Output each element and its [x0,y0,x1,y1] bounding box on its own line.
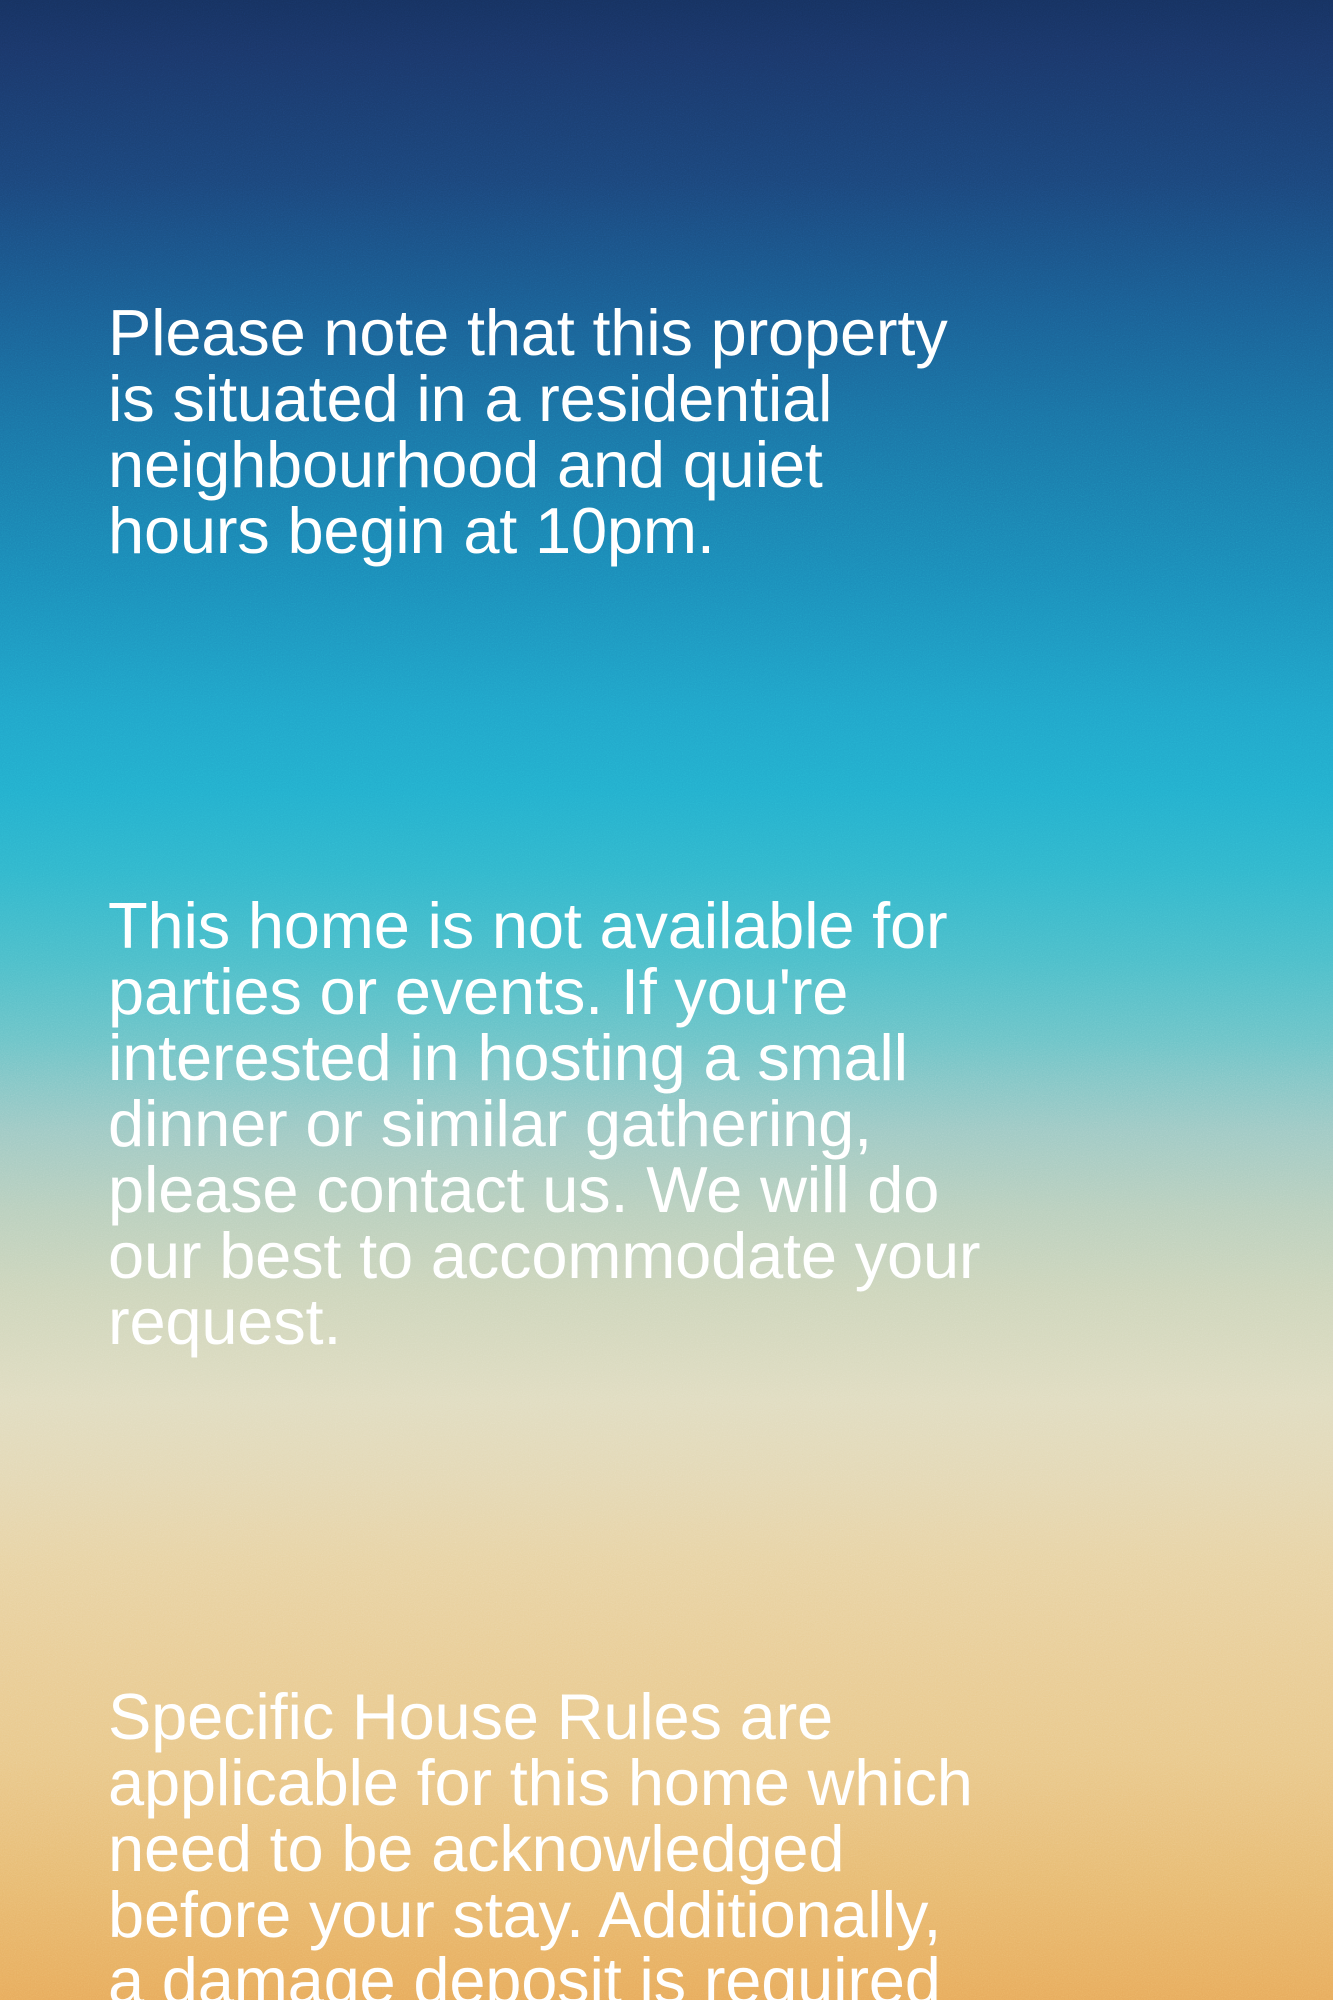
text-line: Please note that this property [108,300,1268,366]
text-line: please contact us. We will do [108,1157,1268,1223]
text-line: neighbourhood and quiet [108,432,1268,498]
paragraph-quiet-hours-notice: Please note that this propertyis situate… [108,168,1268,696]
notice-text-block: Please note that this propertyis situate… [108,103,1268,2000]
text-line: dinner or similar gathering, [108,1091,1268,1157]
paragraph-house-rules-deposit: Specific House Rules areapplicable for t… [108,1552,1268,2000]
paragraph-parties-events-policy: This home is not available forparties or… [108,761,1268,1487]
house-rules-poster: Please note that this propertyis situate… [0,0,1333,2000]
text-line: before your stay. Additionally, [108,1882,1268,1948]
text-line: a damage deposit is required [108,1948,1268,2000]
text-line: Specific House Rules are [108,1684,1268,1750]
text-line: our best to accommodate your [108,1223,1268,1289]
text-line: interested in hosting a small [108,1025,1268,1091]
text-line: parties or events. If you're [108,959,1268,1025]
text-line: applicable for this home which [108,1750,1268,1816]
text-line: need to be acknowledged [108,1816,1268,1882]
text-line: is situated in a residential [108,366,1268,432]
text-line: hours begin at 10pm. [108,498,1268,564]
text-line: This home is not available for [108,893,1268,959]
text-line: request. [108,1289,1268,1355]
